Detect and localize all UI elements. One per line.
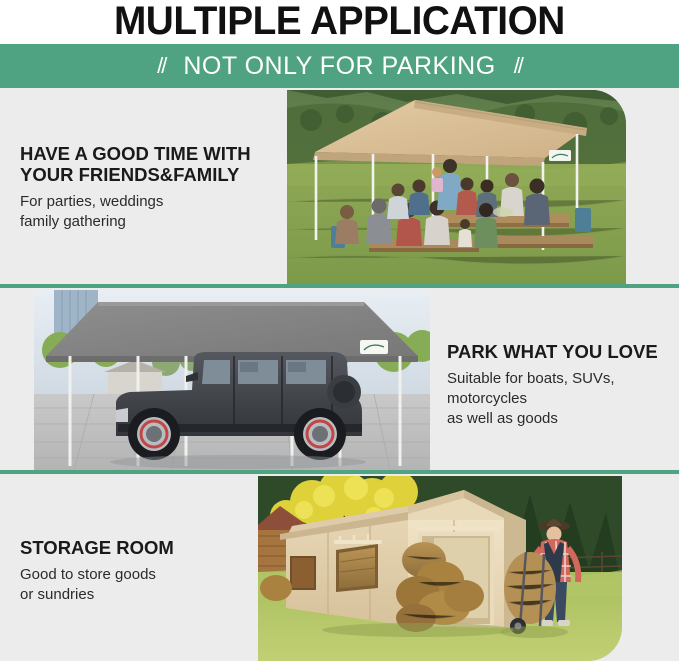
storage-text-block: STORAGE ROOM Good to store goods or sund…	[20, 537, 250, 605]
page-title: MULTIPLE APPLICATION	[114, 0, 565, 42]
parking-heading-line1: PARK WHAT YOU LOVE	[447, 341, 677, 362]
party-photo	[287, 90, 626, 284]
storage-sub-line1: Good to store goods	[20, 565, 250, 585]
parking-sub-line3: as well as goods	[447, 409, 677, 429]
banner-subtitle: NOT ONLY FOR PARKING	[183, 52, 495, 81]
slash-left-icon: //	[157, 53, 165, 79]
parking-photo	[34, 290, 430, 470]
storage-heading-line1: STORAGE ROOM	[20, 537, 250, 558]
parking-sub-line2: motorcycles	[447, 389, 677, 409]
subtitle-banner: // NOT ONLY FOR PARKING //	[0, 44, 679, 88]
party-text-block: HAVE A GOOD TIME WITH YOUR FRIENDS&FAMIL…	[20, 143, 282, 232]
storage-sub-line2: or sundries	[20, 585, 250, 605]
parking-sub-line1: Suitable for boats, SUVs,	[447, 369, 677, 389]
infographic-page: MULTIPLE APPLICATION // NOT ONLY FOR PAR…	[0, 0, 679, 661]
party-sub-line2: family gathering	[20, 212, 282, 232]
slash-right-icon: //	[514, 53, 522, 79]
party-heading-line1: HAVE A GOOD TIME WITH	[20, 143, 282, 164]
party-heading-line2: YOUR FRIENDS&FAMILY	[20, 164, 282, 185]
title-bar: MULTIPLE APPLICATION	[0, 0, 679, 42]
storage-photo	[258, 476, 622, 661]
parking-text-block: PARK WHAT YOU LOVE Suitable for boats, S…	[447, 341, 677, 429]
party-sub-line1: For parties, weddings	[20, 192, 282, 212]
